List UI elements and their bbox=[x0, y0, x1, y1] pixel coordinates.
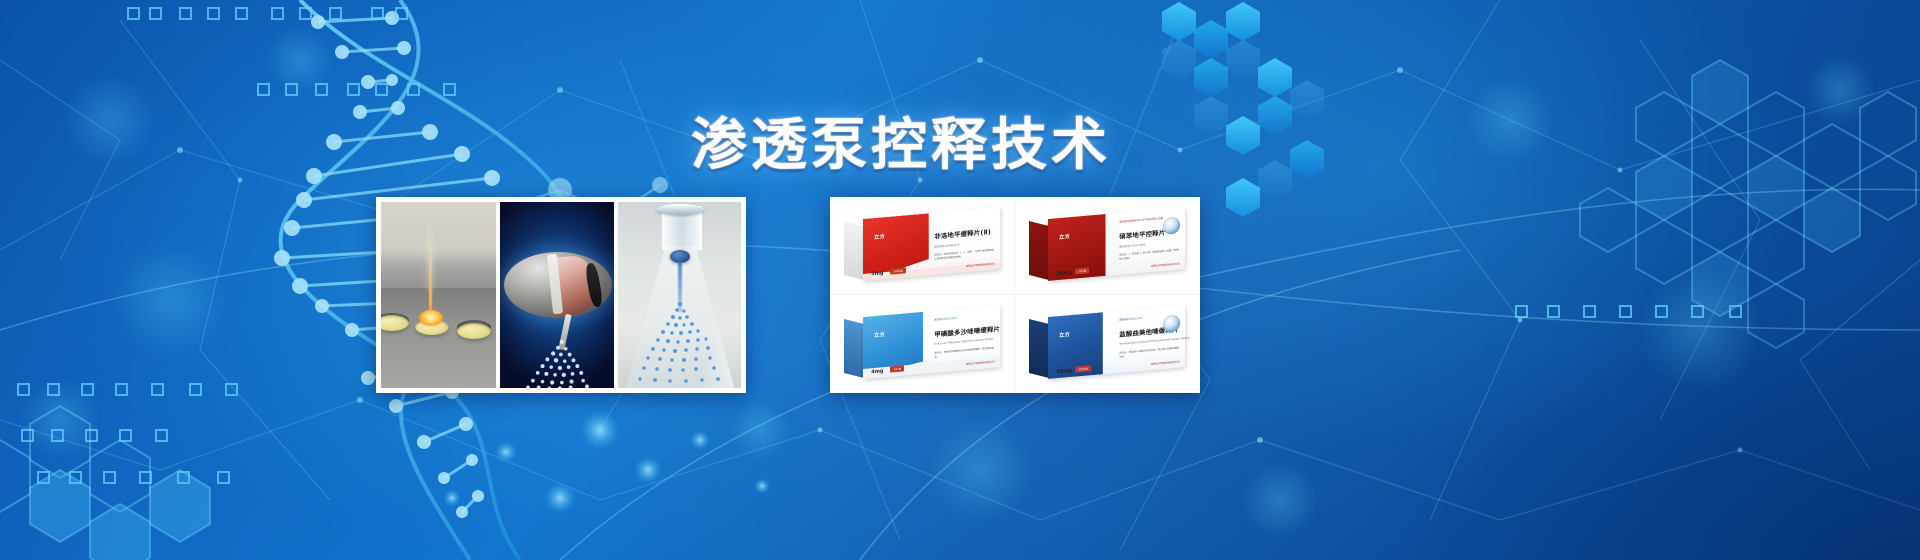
product-carton-grid: 立方 非洛地平缓释片(Ⅱ) 国药准字H20067273 适应证：原发性高血压（Ⅰ… bbox=[830, 197, 1200, 393]
hexagon-shape bbox=[1226, 40, 1260, 79]
hexagon-shape bbox=[1162, 2, 1196, 41]
product-carton-4: 立方 国药准字H20213712 盐酸曲美他嗪缓释片 Trimetazidine… bbox=[1029, 317, 1185, 375]
product-indications: 适应证：原发性高血压（Ⅰ、Ⅱ、Ⅲ级）；可用于单独使用或与其他降压药物联合使用。 bbox=[934, 248, 994, 261]
laser-beam bbox=[429, 235, 432, 321]
hexagon-shape bbox=[1162, 40, 1196, 79]
carton-side-panel bbox=[844, 319, 864, 378]
hexagon-field-bottom-left-fill bbox=[30, 470, 210, 560]
quality-seal-icon bbox=[1163, 216, 1180, 234]
dissolution-plume bbox=[630, 302, 730, 388]
product-name: 硝苯地平控释片 bbox=[1119, 227, 1165, 240]
product-dose: 4mg bbox=[871, 368, 883, 375]
manufacturer-name: 合肥立方制药股份有限公司 bbox=[1151, 262, 1180, 269]
product-dose-badge: 7片/盒 bbox=[1075, 267, 1089, 274]
carton-front-face: 立方 慢作用钙通道阻滞剂 用于高血压和心绞痛 硝苯地平控释片 国药准字 H202… bbox=[1048, 207, 1185, 281]
product-approval: 国药准字 H20213898 bbox=[1119, 243, 1145, 249]
product-tagline: 慢作用钙通道阻滞剂 用于高血压和心绞痛 bbox=[1119, 216, 1163, 224]
product-cell-4[interactable]: 立方 国药准字H20213712 盐酸曲美他嗪缓释片 Trimetazidine… bbox=[1015, 295, 1200, 393]
product-indications: 适应证：稳定型心绞痛的对症治疗；冠心病心绞痛的辅助治疗。 bbox=[1119, 346, 1179, 359]
manufacturer-name: 合肥立方制药股份有限公司 bbox=[1151, 360, 1180, 367]
laser-spark bbox=[419, 310, 443, 326]
product-dose: 5mg bbox=[871, 270, 883, 277]
banner-root: 渗透泵控释技术 bbox=[0, 0, 1920, 560]
brand-logo: 立方 bbox=[874, 233, 885, 241]
granule-spray bbox=[500, 340, 615, 388]
banner-title-wrap: 渗透泵控释技术 bbox=[0, 78, 1920, 214]
process-photo-strip bbox=[376, 197, 746, 393]
product-indications: 适应证：1. 高血压 2. 冠心病：慢性稳定型心绞痛（劳累性心绞痛） bbox=[1119, 248, 1179, 261]
tablet-shape bbox=[457, 323, 491, 339]
page-title: 渗透泵控释技术 bbox=[691, 116, 1111, 176]
product-name: 甲磺酸多沙唑嗪缓释片 bbox=[934, 324, 1000, 339]
brand-logo: 立方 bbox=[874, 331, 885, 339]
product-subname: Doxazosin Mesylate Extended-release Tabl… bbox=[934, 338, 993, 346]
carton-side-panel bbox=[844, 221, 864, 280]
product-subname: Trimetazidine Hydrochloride Sustained-re… bbox=[1119, 337, 1189, 346]
product-name: 非洛地平缓释片(Ⅱ) bbox=[934, 226, 991, 240]
hexagon-shape bbox=[1194, 20, 1228, 59]
carton-side-panel bbox=[1029, 319, 1049, 378]
product-dose-badge: 7片/盒 bbox=[890, 365, 904, 372]
carton-side-panel bbox=[1029, 221, 1049, 280]
carton-front-face: 立方 国药准字H20193071 甲磺酸多沙唑嗪缓释片 Doxazosin Me… bbox=[863, 305, 1000, 379]
carton-front-face: 立方 国药准字H20213712 盐酸曲美他嗪缓释片 Trimetazidine… bbox=[1048, 305, 1185, 379]
photo-tablet-cross-section bbox=[500, 202, 615, 388]
hexagon-shape bbox=[1226, 2, 1260, 41]
photo-laser-drilling bbox=[381, 202, 496, 388]
product-carton-2: 立方 慢作用钙通道阻滞剂 用于高血压和心绞痛 硝苯地平控释片 国药准字 H202… bbox=[1029, 219, 1185, 277]
brand-logo: 立方 bbox=[1059, 233, 1070, 241]
product-carton-3: 立方 国药准字H20193071 甲磺酸多沙唑嗪缓释片 Doxazosin Me… bbox=[844, 317, 1000, 375]
product-approval: 国药准字H20067273 bbox=[934, 243, 960, 249]
brand-logo: 立方 bbox=[1059, 331, 1070, 339]
carton-front-face: 立方 非洛地平缓释片(Ⅱ) 国药准字H20067273 适应证：原发性高血压（Ⅰ… bbox=[863, 207, 1000, 281]
product-approval-top: 国药准字H20193071 bbox=[934, 316, 958, 322]
photo-dissolution-flask bbox=[618, 202, 741, 388]
product-approval-top: 国药准字H20213712 bbox=[1119, 316, 1143, 322]
product-cell-3[interactable]: 立方 国药准字H20193071 甲磺酸多沙唑嗪缓释片 Doxazosin Me… bbox=[830, 295, 1015, 393]
product-carton-1: 立方 非洛地平缓释片(Ⅱ) 国药准字H20067273 适应证：原发性高血压（Ⅰ… bbox=[844, 219, 1000, 277]
